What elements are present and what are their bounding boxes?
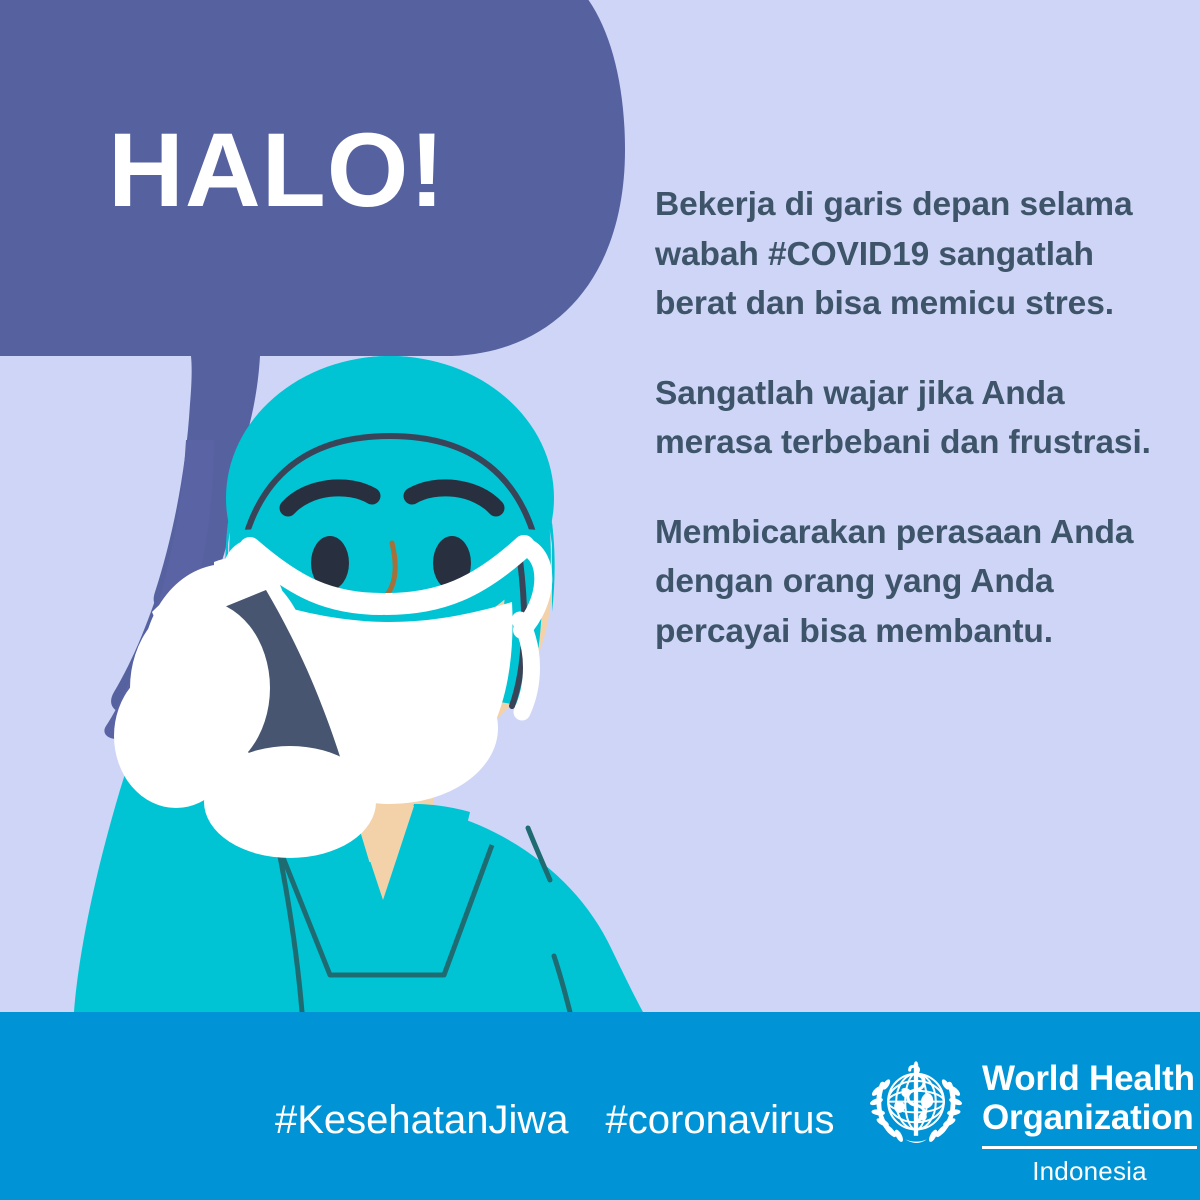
who-name-line-2: Organization [982,1098,1197,1137]
poster-canvas: HALO! Bekerja di garis depan selama waba… [0,0,1200,1200]
hashtag-kesehatanjiwa[interactable]: #KesehatanJiwa [275,1098,569,1143]
who-wordmark: World Health Organization Indonesia [982,1053,1197,1187]
footer-bar: #KesehatanJiwa #coronavirus [0,1012,1200,1200]
logo-divider [982,1146,1197,1149]
who-logo: World Health Organization Indonesia [862,1053,1197,1187]
paragraph-2: Sangatlah wajar jika Anda merasa terbeba… [655,369,1165,468]
hashtag-group: #KesehatanJiwa #coronavirus [275,1098,835,1143]
who-country-label: Indonesia [982,1156,1197,1187]
paragraph-1: Bekerja di garis depan selama wabah #COV… [655,180,1165,329]
who-emblem-icon [862,1053,970,1161]
body-copy: Bekerja di garis depan selama wabah #COV… [655,180,1165,657]
who-name-line-1: World Health [982,1059,1197,1098]
hashtag-coronavirus[interactable]: #coronavirus [606,1098,835,1143]
greeting-text: HALO! [108,118,445,223]
paragraph-3: Membicarakan perasaan Anda dengan orang … [655,508,1165,657]
